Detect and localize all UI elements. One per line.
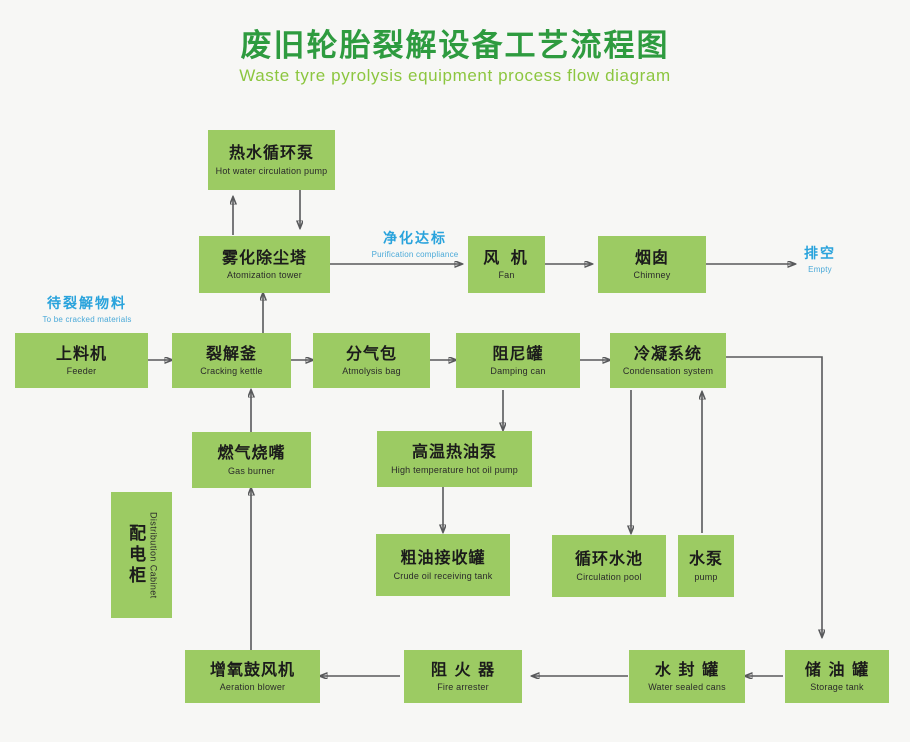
arrow-condensation-to-storage [726, 357, 822, 637]
node-high-temperature-hot-oil-pump-zh: 高温热油泵 [412, 443, 497, 461]
node-atomization-tower[interactable]: 雾化除尘塔 Atomization tower [199, 236, 330, 293]
node-condensation-system-zh: 冷凝系统 [634, 345, 702, 363]
node-circulation-pool-en: Circulation pool [576, 572, 641, 582]
annotation-to-be-cracked-materials-en: To be cracked materials [22, 315, 152, 324]
node-fire-arrester-zh: 阻 火 器 [431, 661, 495, 679]
node-feeder-en: Feeder [67, 366, 97, 376]
node-damping-can[interactable]: 阻尼罐 Damping can [456, 333, 580, 388]
node-atomization-tower-zh: 雾化除尘塔 [222, 249, 307, 267]
node-distribution-cabinet[interactable]: 配电柜 Distribution Cabinet [111, 492, 172, 618]
node-high-temperature-hot-oil-pump-en: High temperature hot oil pump [391, 465, 518, 475]
annotation-purification-compliance-en: Purification compliance [345, 250, 485, 259]
node-gas-burner[interactable]: 燃气烧嘴 Gas burner [192, 432, 311, 488]
node-condensation-system[interactable]: 冷凝系统 Condensation system [610, 333, 726, 388]
node-aeration-blower[interactable]: 增氧鼓风机 Aeration blower [185, 650, 320, 703]
page-title-en: Waste tyre pyrolysis equipment process f… [0, 66, 910, 86]
node-fan-en: Fan [498, 270, 514, 280]
node-fan[interactable]: 风 机 Fan [468, 236, 545, 293]
node-gas-burner-en: Gas burner [228, 466, 275, 476]
node-water-pump-zh: 水泵 [689, 550, 723, 568]
node-fire-arrester-en: Fire arrester [437, 682, 489, 692]
flow-diagram-canvas: 废旧轮胎裂解设备工艺流程图 Waste tyre pyrolysis equip… [0, 0, 910, 742]
node-fire-arrester[interactable]: 阻 火 器 Fire arrester [404, 650, 522, 703]
node-water-sealed-cans-en: Water sealed cans [648, 682, 726, 692]
node-crude-oil-receiving-tank[interactable]: 粗油接收罐 Crude oil receiving tank [376, 534, 510, 596]
node-cracking-kettle[interactable]: 裂解釜 Cracking kettle [172, 333, 291, 388]
annotation-to-be-cracked-materials-zh: 待裂解物料 [22, 293, 152, 313]
node-atmolysis-bag-en: Atmolysis bag [342, 366, 401, 376]
node-feeder-zh: 上料机 [56, 345, 107, 363]
annotation-to-be-cracked-materials: 待裂解物料 To be cracked materials [22, 293, 152, 324]
node-damping-can-zh: 阻尼罐 [492, 345, 543, 363]
node-distribution-cabinet-en: Distribution Cabinet [148, 512, 158, 599]
node-condensation-system-en: Condensation system [623, 366, 713, 376]
node-water-pump-en: pump [694, 572, 717, 582]
node-hot-water-circulation-pump[interactable]: 热水循环泵 Hot water circulation pump [208, 130, 335, 190]
node-atmolysis-bag[interactable]: 分气包 Atmolysis bag [313, 333, 430, 388]
node-cracking-kettle-en: Cracking kettle [200, 366, 263, 376]
annotation-empty-zh: 排空 [790, 243, 850, 263]
annotation-empty: 排空 Empty [790, 243, 850, 274]
node-storage-tank-en: Storage tank [810, 682, 863, 692]
node-fan-zh: 风 机 [483, 249, 530, 267]
node-feeder[interactable]: 上料机 Feeder [15, 333, 148, 388]
node-aeration-blower-zh: 增氧鼓风机 [210, 661, 295, 679]
node-hot-water-circulation-pump-zh: 热水循环泵 [229, 144, 314, 162]
node-crude-oil-receiving-tank-en: Crude oil receiving tank [394, 571, 493, 581]
node-crude-oil-receiving-tank-zh: 粗油接收罐 [400, 549, 485, 567]
node-distribution-cabinet-zh: 配电柜 [125, 524, 145, 587]
page-title-zh: 废旧轮胎裂解设备工艺流程图 [0, 20, 910, 65]
node-atmolysis-bag-zh: 分气包 [346, 345, 397, 363]
node-atomization-tower-en: Atomization tower [227, 270, 302, 280]
node-storage-tank[interactable]: 储 油 罐 Storage tank [785, 650, 889, 703]
node-water-sealed-cans-zh: 水 封 罐 [655, 661, 719, 679]
node-storage-tank-zh: 储 油 罐 [805, 661, 869, 679]
node-chimney[interactable]: 烟囱 Chimney [598, 236, 706, 293]
node-circulation-pool-zh: 循环水池 [575, 550, 643, 568]
annotation-empty-en: Empty [790, 265, 850, 274]
node-damping-can-en: Damping can [490, 366, 545, 376]
node-hot-water-circulation-pump-en: Hot water circulation pump [216, 166, 328, 176]
node-circulation-pool[interactable]: 循环水池 Circulation pool [552, 535, 666, 597]
node-water-pump[interactable]: 水泵 pump [678, 535, 734, 597]
annotation-purification-compliance-zh: 净化达标 [345, 228, 485, 248]
node-high-temperature-hot-oil-pump[interactable]: 高温热油泵 High temperature hot oil pump [377, 431, 532, 487]
node-aeration-blower-en: Aeration blower [220, 682, 286, 692]
node-water-sealed-cans[interactable]: 水 封 罐 Water sealed cans [629, 650, 745, 703]
node-gas-burner-zh: 燃气烧嘴 [217, 444, 285, 462]
node-chimney-zh: 烟囱 [635, 249, 669, 267]
annotation-purification-compliance: 净化达标 Purification compliance [345, 228, 485, 259]
node-chimney-en: Chimney [634, 270, 671, 280]
node-cracking-kettle-zh: 裂解釜 [206, 345, 257, 363]
